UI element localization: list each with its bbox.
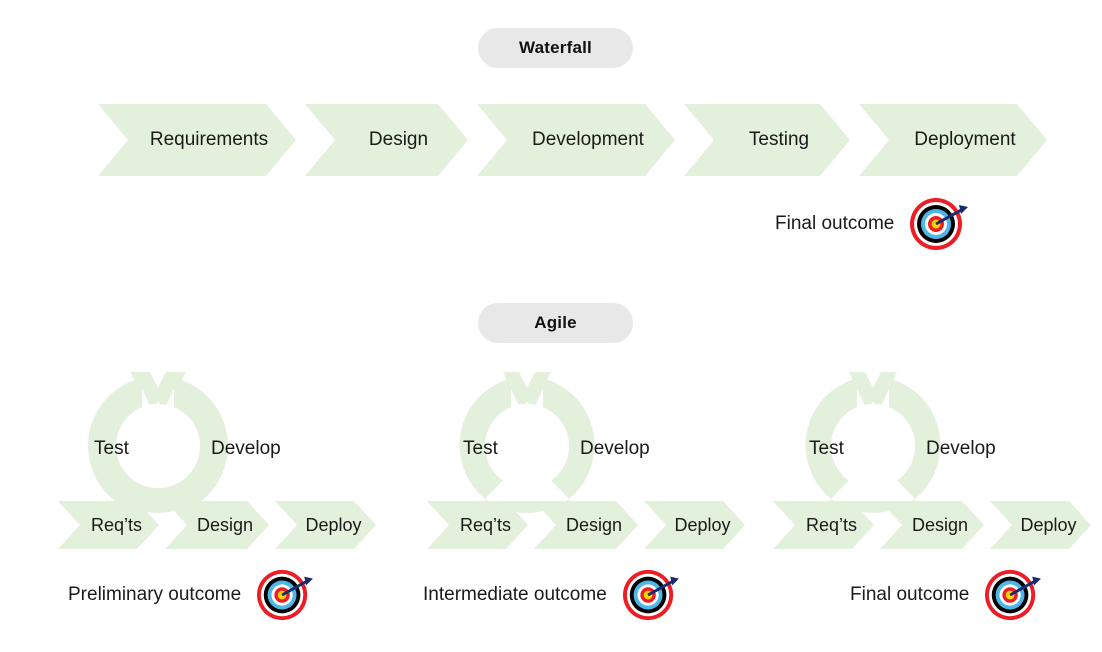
stage-label: Testing [749,129,809,151]
outcome-label: Preliminary outcome [68,584,241,606]
agile-stage-row-2: Req’ts Design Deploy [427,501,751,549]
agile-2-stage-deploy[interactable]: Deploy [644,501,745,549]
agile-stage-row-3: Req’ts Design Deploy [773,501,1097,549]
stage-label: Deploy [674,515,730,536]
waterfall-stage-development[interactable]: Development [477,104,675,176]
stage-label: Requirements [150,129,268,151]
stage-label: Design [912,515,968,536]
outcome-label: Intermediate outcome [423,584,607,606]
stage-label: Development [532,129,644,151]
stage-label: Deploy [1020,515,1076,536]
agile-outcome-1: Preliminary outcome [68,568,315,622]
target-icon [619,568,681,622]
section-badge-agile: Agile [478,303,633,343]
agile-cycle-1-test-label: Test [94,438,129,460]
agile-outcome-3: Final outcome [850,568,1043,622]
agile-outcome-2: Intermediate outcome [423,568,681,622]
agile-1-stage-reqts[interactable]: Req’ts [58,501,159,549]
waterfall-stage-testing[interactable]: Testing [684,104,850,176]
outcome-label: Final outcome [850,584,969,606]
stage-label: Req’ts [806,515,857,536]
stage-label: Deployment [914,129,1015,151]
agile-2-stage-reqts[interactable]: Req’ts [427,501,528,549]
stage-label: Req’ts [91,515,142,536]
agile-stage-row-1: Req’ts Design Deploy [58,501,382,549]
agile-cycle-2-test-label: Test [463,438,498,460]
outcome-label: Final outcome [775,213,894,235]
target-icon [981,568,1043,622]
section-badge-waterfall: Waterfall [478,28,633,68]
stage-label: Req’ts [460,515,511,536]
agile-cycle-3-develop-label: Develop [926,438,996,460]
waterfall-stage-row: Requirements Design Development Testing … [98,104,1056,176]
stage-label: Deploy [305,515,361,536]
waterfall-stage-requirements[interactable]: Requirements [98,104,296,176]
agile-1-stage-deploy[interactable]: Deploy [275,501,376,549]
agile-3-stage-reqts[interactable]: Req’ts [773,501,874,549]
stage-label: Design [369,129,428,151]
target-icon [253,568,315,622]
agile-2-stage-design[interactable]: Design [534,501,638,549]
stage-label: Design [566,515,622,536]
target-icon [906,196,970,252]
agile-3-stage-design[interactable]: Design [880,501,984,549]
agile-cycle-1-develop-label: Develop [211,438,281,460]
agile-cycle-2-develop-label: Develop [580,438,650,460]
waterfall-stage-deployment[interactable]: Deployment [859,104,1047,176]
waterfall-outcome: Final outcome [775,196,970,252]
stage-label: Design [197,515,253,536]
agile-cycle-3-test-label: Test [809,438,844,460]
diagram-canvas: Waterfall Requirements Design Developmen… [0,0,1102,652]
agile-3-stage-deploy[interactable]: Deploy [990,501,1091,549]
waterfall-stage-design[interactable]: Design [305,104,468,176]
agile-1-stage-design[interactable]: Design [165,501,269,549]
